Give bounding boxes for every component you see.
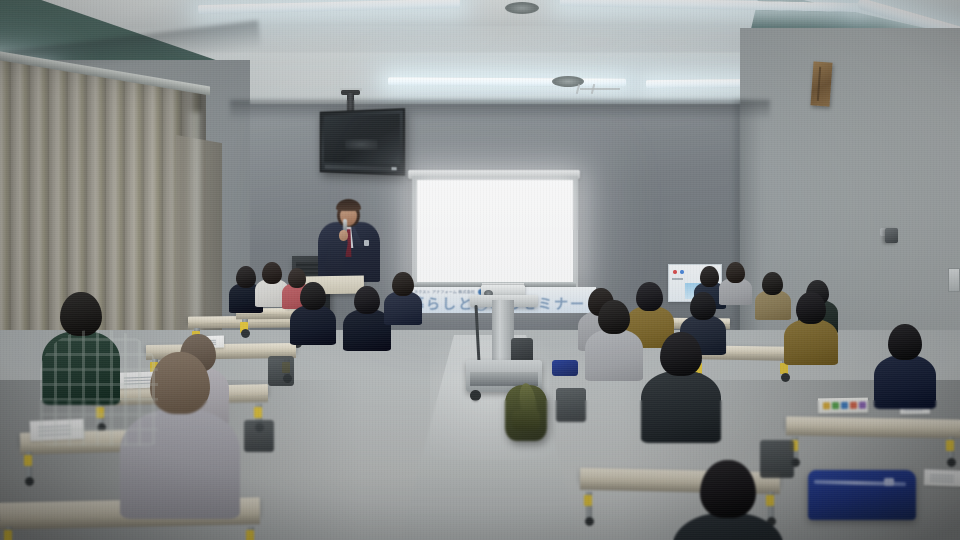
attendee-left-r4-b-head[interactable] bbox=[262, 262, 282, 284]
desk-latch[interactable] bbox=[24, 455, 32, 466]
presenter-name-badge bbox=[364, 240, 369, 246]
attendee-right-mid-b-head[interactable] bbox=[636, 282, 663, 311]
attendee-navy-bob-body[interactable] bbox=[874, 355, 936, 409]
tv-screen-glint bbox=[345, 139, 377, 150]
wall-ceiling-shadow bbox=[230, 100, 770, 120]
brochure-colour-chip bbox=[841, 402, 848, 409]
poster-dot-blue-icon bbox=[680, 270, 684, 274]
poster-dot-red-icon bbox=[673, 270, 677, 274]
brochure-colour-chip bbox=[859, 402, 866, 409]
attendee-front-right-head[interactable] bbox=[700, 460, 756, 518]
tv-screen bbox=[324, 114, 400, 165]
tv-power-led-icon bbox=[392, 167, 397, 170]
chair-back[interactable] bbox=[268, 356, 294, 386]
brochure-colour-chip bbox=[832, 402, 839, 409]
attendee-left-r4-a-head[interactable] bbox=[236, 266, 256, 288]
attendee-charcoal-head[interactable] bbox=[660, 332, 702, 376]
blue-bag-zip-tab bbox=[884, 478, 894, 486]
paper-text-line bbox=[904, 410, 923, 411]
desk-latch[interactable] bbox=[584, 495, 592, 506]
attendee-right-mid-d-head[interactable] bbox=[796, 292, 826, 324]
cart-caster-left bbox=[470, 390, 481, 401]
fluorescent-tube-3 bbox=[388, 77, 626, 86]
attendee-left-r3-c-head[interactable] bbox=[392, 272, 414, 296]
handout-paper[interactable] bbox=[924, 469, 960, 486]
presenter-hand bbox=[339, 230, 348, 241]
plaque-grain bbox=[817, 67, 821, 101]
desk-latch[interactable] bbox=[246, 530, 254, 540]
attendee-navy-bob-head[interactable] bbox=[888, 324, 922, 360]
desk-latch[interactable] bbox=[4, 530, 12, 540]
light-switch-plate[interactable] bbox=[948, 268, 960, 292]
attendee-right-mid-d-body[interactable] bbox=[784, 319, 838, 365]
attendee-right-far-a-head[interactable] bbox=[700, 266, 719, 287]
ceiling-vent-1 bbox=[505, 2, 539, 14]
paper-text-line bbox=[930, 477, 955, 479]
wall-speaker bbox=[885, 228, 898, 243]
desk-caster[interactable] bbox=[241, 329, 250, 338]
chair-back[interactable] bbox=[244, 420, 274, 452]
colour-brochure bbox=[818, 398, 868, 414]
presenter-hair bbox=[336, 199, 361, 211]
attendee-right-near-a-body[interactable] bbox=[585, 329, 643, 381]
attendee-right-near-a-head[interactable] bbox=[598, 300, 630, 334]
paper-text-line bbox=[930, 474, 955, 476]
attendee-left-r3-b-head[interactable] bbox=[354, 286, 380, 314]
seminar-room-photo: ネクスト アナフォーム 株式会社 NEXT 暮らしと◯◯のセミナー bbox=[0, 0, 960, 540]
poster-text-line bbox=[672, 278, 683, 280]
ceiling-mounted-tv[interactable] bbox=[320, 108, 405, 176]
attendee-left-r3-c-body[interactable] bbox=[384, 291, 422, 325]
blue-folder-bag bbox=[808, 470, 916, 520]
attendee-left-r3-a-head[interactable] bbox=[300, 282, 326, 310]
brochure-colour-chip bbox=[850, 402, 857, 409]
projection-screen-glare bbox=[424, 184, 566, 238]
paper-text-line bbox=[929, 481, 954, 483]
attendee-left-r3-a-body[interactable] bbox=[290, 305, 336, 345]
brochure-colour-chip bbox=[823, 402, 830, 409]
chair-back[interactable] bbox=[556, 388, 586, 422]
backpack-pocket bbox=[512, 410, 540, 430]
blue-item-on-desk bbox=[552, 360, 578, 376]
desk-latch[interactable] bbox=[254, 407, 262, 418]
desk-caster[interactable] bbox=[781, 373, 790, 382]
attendee-charcoal-body[interactable] bbox=[641, 371, 721, 443]
plaid-pattern[interactable] bbox=[40, 330, 158, 446]
desk-latch[interactable] bbox=[766, 495, 774, 506]
attendee-right-mid-c-head[interactable] bbox=[690, 292, 716, 320]
tv-bottom-bar bbox=[325, 165, 395, 171]
attendee-right-far-c-head[interactable] bbox=[762, 272, 783, 295]
ceiling-slot-3 bbox=[580, 88, 620, 90]
desk-latch[interactable] bbox=[946, 440, 954, 451]
attendee-light-top-head[interactable] bbox=[150, 352, 210, 414]
chair-back[interactable] bbox=[760, 440, 794, 478]
attendee-right-far-b-head[interactable] bbox=[726, 262, 745, 283]
wooden-plaque bbox=[810, 61, 832, 106]
